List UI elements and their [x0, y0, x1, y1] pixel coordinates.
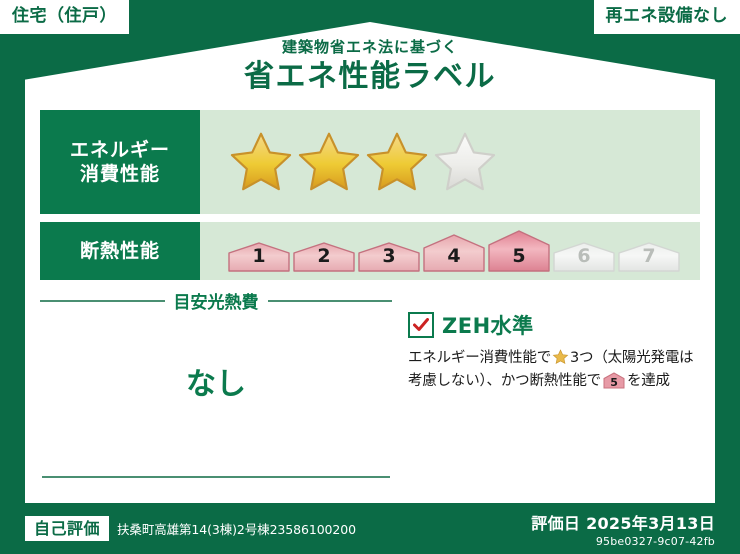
- energy-performance-label: エネルギー 消費性能: [40, 110, 200, 214]
- building-type-tag: 住宅（住戸）: [0, 0, 129, 34]
- energy-performance-value: [200, 110, 700, 214]
- inline-grade-value: 5: [603, 377, 625, 388]
- grade-badge-label: 5: [488, 247, 550, 266]
- grade-badge-label: 4: [423, 247, 485, 266]
- grade-badge-2: 2: [293, 242, 355, 272]
- energy-label-root: 住宅（住戸） 再エネ設備なし 建築物省エネ法に基づく 省エネ性能ラベル エネルギ…: [0, 0, 740, 554]
- evaluation-date: 評価日 2025年3月13日: [531, 510, 715, 534]
- title-block: 建築物省エネ法に基づく 省エネ性能ラベル: [0, 38, 740, 96]
- star-icon-filled: [228, 130, 294, 194]
- zeh-standard-label: ZEH水準: [442, 310, 534, 340]
- star-icon: [552, 349, 569, 365]
- footer: 自己評価 扶桑町高雄第14(3棟)2号棟23586100200 評価日 2025…: [0, 503, 740, 554]
- inline-grade-badge: 5: [603, 372, 625, 389]
- insulation-performance-row: 断熱性能 1234567: [40, 222, 700, 280]
- grade-badge-label: 1: [228, 247, 290, 266]
- insulation-performance-value: 1234567: [200, 222, 700, 280]
- zeh-title-row: ZEH水準: [408, 310, 700, 340]
- grade-badge-1: 1: [228, 242, 290, 272]
- star-icon-filled: [296, 130, 362, 194]
- grade-badge-label: 6: [553, 247, 615, 266]
- zeh-desc-star-count: 3つ（太陽光発電: [570, 350, 679, 366]
- utility-cost-divider: [42, 476, 390, 478]
- rule-right: [268, 300, 393, 302]
- grade-scale: 1234567: [228, 230, 680, 272]
- energy-label-line1: エネルギー: [70, 138, 170, 162]
- page-title: 省エネ性能ラベル: [0, 58, 740, 96]
- utility-cost-heading: 目安光熱費: [40, 288, 392, 313]
- energy-performance-row: エネルギー 消費性能: [40, 110, 700, 214]
- zeh-desc-part3: を達成: [627, 373, 670, 389]
- utility-cost-section: 目安光熱費 なし: [40, 288, 392, 478]
- grade-badge-label: 3: [358, 247, 420, 266]
- footer-right: 評価日 2025年3月13日 95be0327-9c07-42fb: [531, 510, 715, 548]
- check-icon: [413, 318, 429, 332]
- utility-cost-value: なし: [40, 359, 392, 403]
- grade-badge-6: 6: [553, 242, 615, 272]
- lower-columns: 目安光熱費 なし ZEH水準 エネルギー消費性能で3つ（太陽光発電は考慮しな: [40, 288, 700, 488]
- grade-badge-4: 4: [423, 234, 485, 272]
- zeh-section: ZEH水準 エネルギー消費性能で3つ（太陽光発電は考慮しない）、かつ断熱性能で5…: [408, 310, 700, 394]
- utility-cost-heading-text: 目安光熱費: [174, 288, 259, 313]
- star-icon-filled: [364, 130, 430, 194]
- energy-label-line2: 消費性能: [80, 162, 160, 186]
- property-address: 扶桑町高雄第14(3棟)2号棟23586100200: [117, 519, 356, 538]
- grade-badge-label: 7: [618, 247, 680, 266]
- grade-badge-7: 7: [618, 242, 680, 272]
- self-evaluation-badge: 自己評価: [25, 516, 109, 542]
- star-icon-empty: [432, 130, 498, 194]
- star-rating: [228, 130, 498, 194]
- zeh-description: エネルギー消費性能で3つ（太陽光発電は考慮しない）、かつ断熱性能で5を達成: [408, 347, 700, 394]
- title-subtitle: 建築物省エネ法に基づく: [0, 38, 740, 56]
- grade-badge-label: 2: [293, 247, 355, 266]
- evaluation-id: 95be0327-9c07-42fb: [531, 535, 715, 548]
- renewable-equipment-tag: 再エネ設備なし: [594, 0, 740, 34]
- content-panel: エネルギー 消費性能 断熱性能 1234567 目安光熱費 なし: [25, 92, 715, 503]
- grade-badge-3: 3: [358, 242, 420, 272]
- insulation-performance-label: 断熱性能: [40, 222, 200, 280]
- zeh-checkbox: [408, 312, 434, 338]
- grade-badge-5: 5: [488, 230, 550, 272]
- rule-left: [40, 300, 165, 302]
- zeh-desc-part1: エネルギー消費性能で: [408, 350, 551, 366]
